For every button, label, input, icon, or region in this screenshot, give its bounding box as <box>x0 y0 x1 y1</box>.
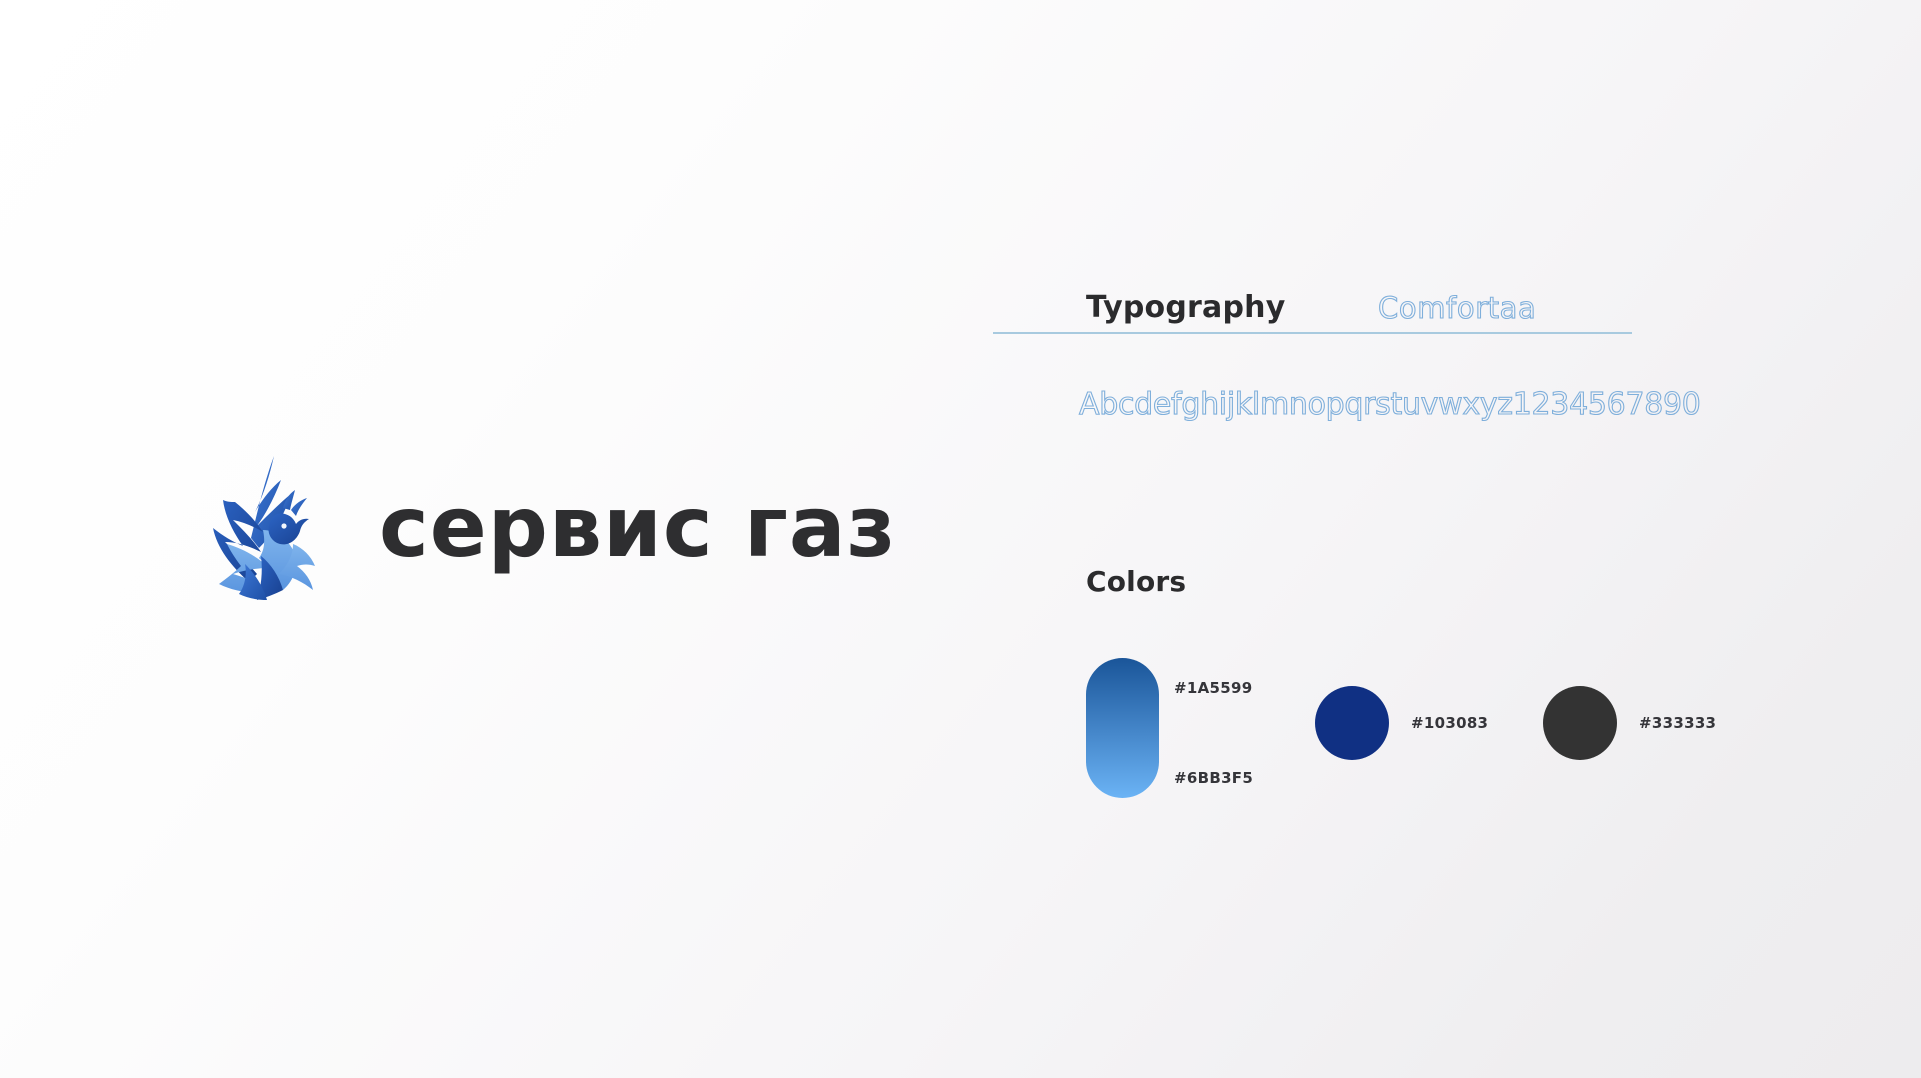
brand-style-guide-canvas: сервис газ Typography Comfortaa Abcdefgh… <box>0 0 1921 1078</box>
gradient-swatch-group: #1A5599 #6BB3F5 <box>1086 658 1326 808</box>
dark-swatch-circle <box>1543 686 1617 760</box>
brand-lockup: сервис газ <box>205 452 896 602</box>
typography-divider <box>993 332 1632 334</box>
dark-swatch-group: #333333 <box>1543 686 1716 760</box>
typeface-specimen: Abcdefghijklmnopqrstuvwxyz1234567890 <box>1079 387 1701 422</box>
typography-section: Typography Comfortaa Abcdefghijklmnopqrs… <box>993 292 1633 334</box>
typography-header-row: Typography Comfortaa <box>993 292 1633 334</box>
typography-section-title: Typography <box>1086 292 1285 324</box>
color-swatch-row: #1A5599 #6BB3F5 #103083 #333333 <box>1086 658 1706 818</box>
gradient-top-hex-label: #1A5599 <box>1174 679 1252 697</box>
colors-section: Colors #1A5599 #6BB3F5 #103083 #333333 <box>1086 568 1186 596</box>
phoenix-bird-logo-icon <box>205 452 317 602</box>
dark-hex-label: #333333 <box>1639 714 1716 732</box>
navy-swatch-circle <box>1315 686 1389 760</box>
typeface-name: Comfortaa <box>1378 293 1536 323</box>
gradient-bottom-hex-label: #6BB3F5 <box>1174 769 1253 787</box>
navy-hex-label: #103083 <box>1411 714 1488 732</box>
navy-swatch-group: #103083 <box>1315 686 1488 760</box>
colors-section-title: Colors <box>1086 568 1186 596</box>
brand-wordmark: сервис газ <box>379 485 896 569</box>
gradient-swatch-pill <box>1086 658 1159 798</box>
